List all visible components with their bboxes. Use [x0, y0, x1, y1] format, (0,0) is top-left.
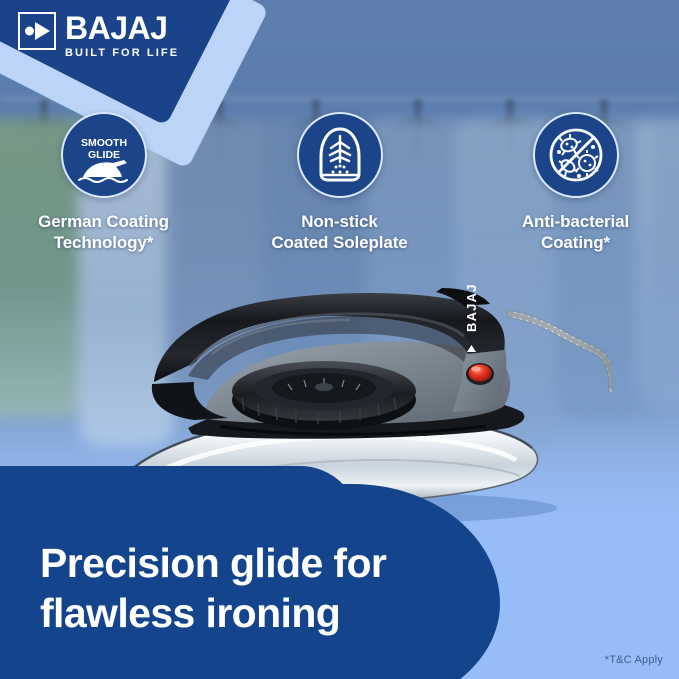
- page-title: Precision glide for flawless ironing: [40, 538, 470, 638]
- feature-label-line1: Anti-bacterial: [522, 212, 629, 233]
- anti-bacterial-germ-icon: [533, 112, 619, 198]
- smooth-glide-iron-icon: SMOOTH GLIDE: [61, 112, 147, 198]
- feature-anti-bacterial: Anti-bacterial Coating*: [487, 112, 665, 253]
- feature-german-coating: SMOOTH GLIDE German Coating Technology*: [15, 112, 193, 253]
- logo-arrow: [35, 22, 50, 40]
- brand-logo-text: BAJAJ BUILT FOR LIFE: [65, 12, 179, 59]
- feature-label-line1: German Coating: [38, 212, 169, 233]
- feature-label-line1: Non-stick: [271, 212, 407, 233]
- feature-non-stick: Non-stick Coated Soleplate: [251, 112, 429, 253]
- brand-logo: BAJAJ BUILT FOR LIFE: [18, 12, 179, 59]
- feature-label: Anti-bacterial Coating*: [522, 212, 629, 253]
- feature-label-line2: Coating*: [522, 233, 629, 254]
- headline-line2: flawless ironing: [40, 588, 470, 638]
- feature-list: SMOOTH GLIDE German Coating Technology*: [0, 112, 679, 253]
- non-stick-soleplate-icon: [297, 112, 383, 198]
- feature-label-line2: Technology*: [38, 233, 169, 254]
- brand-name: BAJAJ: [65, 12, 179, 44]
- feature-label: Non-stick Coated Soleplate: [271, 212, 407, 253]
- feature-label-line2: Coated Soleplate: [271, 233, 407, 254]
- red-indicator-light: [469, 364, 492, 381]
- badge-text-line1: SMOOTH: [80, 137, 126, 149]
- product-banner: BAJAJ BUILT FOR LIFE SMOOTH GLIDE German…: [0, 0, 679, 679]
- logo-dot: [25, 27, 34, 36]
- bajaj-arrow-logo-icon: [18, 12, 56, 50]
- disclaimer-text: *T&C Apply: [605, 654, 663, 666]
- feature-label: German Coating Technology*: [38, 212, 169, 253]
- headline-line1: Precision glide for: [40, 538, 470, 588]
- svg-text:BAJAJ: BAJAJ: [464, 283, 479, 332]
- badge-text-line2: GLIDE: [87, 149, 119, 161]
- brand-tagline: BUILT FOR LIFE: [65, 48, 179, 59]
